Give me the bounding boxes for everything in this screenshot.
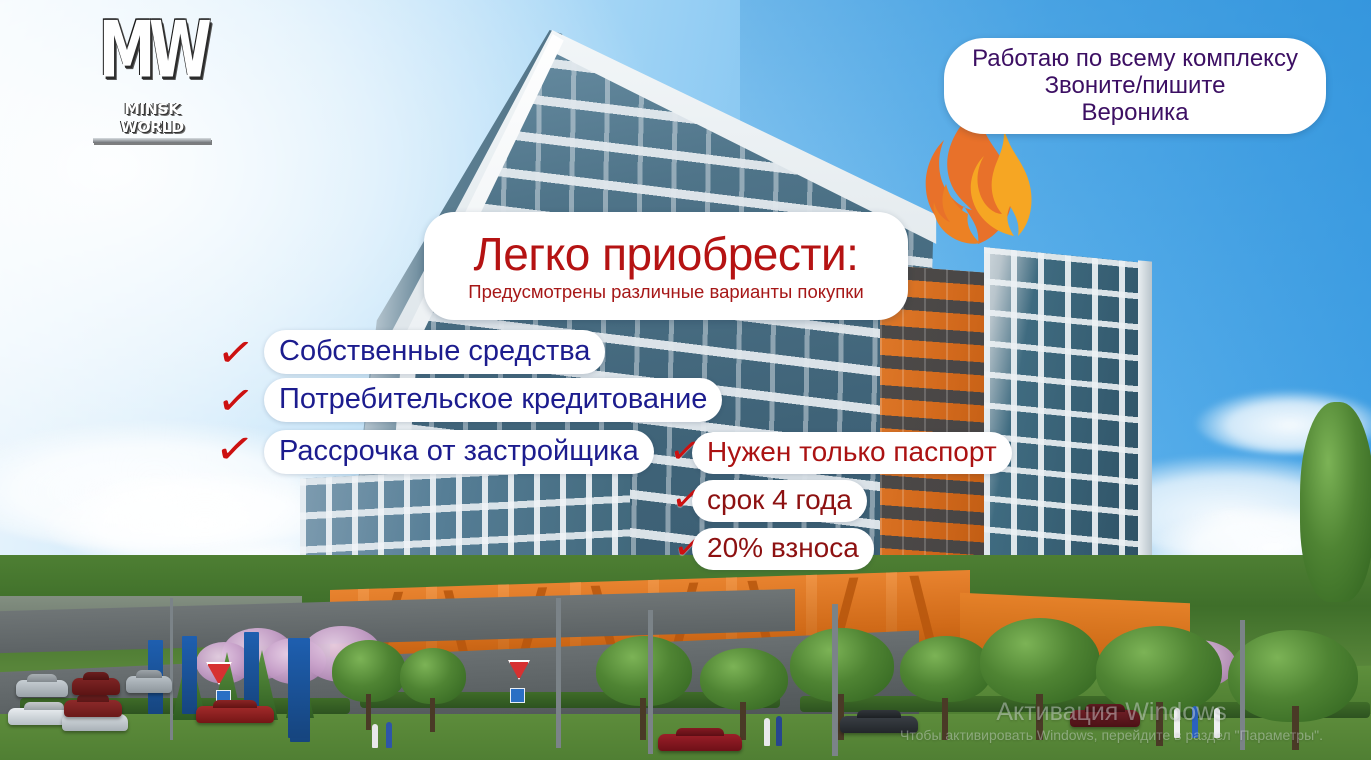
tree — [790, 628, 894, 702]
car — [64, 700, 122, 717]
callout-line-3: Вероника — [1081, 99, 1188, 126]
tree-trunk — [366, 694, 371, 730]
payment-option-2[interactable]: Потребительское кредитование — [264, 378, 722, 422]
installment-term-label: 20% взноса — [707, 532, 859, 563]
tree-trunk — [430, 698, 435, 732]
car — [126, 676, 172, 693]
watermark-subtitle: Чтобы активировать Windows, перейдите в … — [900, 726, 1323, 744]
street-banner — [182, 636, 197, 714]
pedestrian — [372, 724, 378, 748]
logo-wordmark: MINSK WORLD — [91, 100, 213, 136]
checkmark-icon: ✓ — [212, 426, 256, 475]
light-pole — [170, 598, 173, 740]
car — [16, 680, 68, 697]
checkmark-icon: ✓ — [214, 378, 256, 425]
installment-term-label: срок 4 года — [707, 484, 852, 515]
light-pole — [648, 610, 653, 754]
light-pole — [556, 598, 561, 748]
payment-option-label: Рассрочка от застройщика — [279, 435, 639, 467]
tree-trunk — [640, 698, 646, 740]
poster-canvas: MW MINSK WORLD Работаю по всему комплекс… — [0, 0, 1371, 760]
car — [72, 678, 120, 695]
logo-underline — [93, 138, 211, 143]
installment-term-2[interactable]: срок 4 года — [692, 480, 867, 522]
payment-option-1[interactable]: Собственные средства — [264, 330, 605, 374]
pedestrian — [764, 718, 770, 746]
callout-line-1: Работаю по всему комплексу — [972, 45, 1298, 72]
page-subtitle: Предусмотрены различные варианты покупки — [468, 281, 863, 303]
tree — [980, 618, 1100, 704]
watermark-title: Активация Windows — [900, 698, 1323, 726]
payment-option-label: Потребительское кредитование — [279, 383, 707, 415]
pedestrian — [776, 716, 782, 746]
page-title: Легко приобрести: — [474, 228, 859, 280]
payment-option-3[interactable]: Рассрочка от застройщика — [264, 430, 654, 474]
headline-card: Легко приобрести: Предусмотрены различны… — [424, 212, 908, 320]
tree — [596, 636, 692, 706]
installment-term-1[interactable]: Нужен только паспорт — [692, 432, 1012, 474]
tree — [700, 648, 788, 710]
contact-callout[interactable]: Работаю по всему комплексу Звоните/пишит… — [944, 38, 1326, 134]
installment-term-3[interactable]: 20% взноса — [692, 528, 874, 570]
payment-option-label: Собственные средства — [279, 335, 590, 367]
windows-activation-watermark: Активация Windows Чтобы активировать Win… — [900, 698, 1323, 744]
street-banner — [288, 638, 310, 738]
pedestrian — [386, 722, 392, 748]
checkmark-icon: ✓ — [214, 330, 256, 377]
pedestrian-crossing-sign-icon — [510, 688, 525, 703]
car — [196, 706, 274, 723]
tree — [900, 636, 992, 702]
logo-monogram: MW — [97, 10, 207, 90]
tree — [400, 648, 466, 704]
tree — [332, 640, 406, 702]
tree-tall-right — [1300, 402, 1371, 602]
light-pole — [832, 604, 838, 756]
minsk-world-logo: MW MINSK WORLD — [92, 18, 212, 118]
tree-trunk — [740, 702, 746, 740]
installment-term-label: Нужен только паспорт — [707, 436, 997, 467]
car — [658, 734, 742, 751]
callout-line-2: Звоните/пишите — [1045, 72, 1226, 99]
